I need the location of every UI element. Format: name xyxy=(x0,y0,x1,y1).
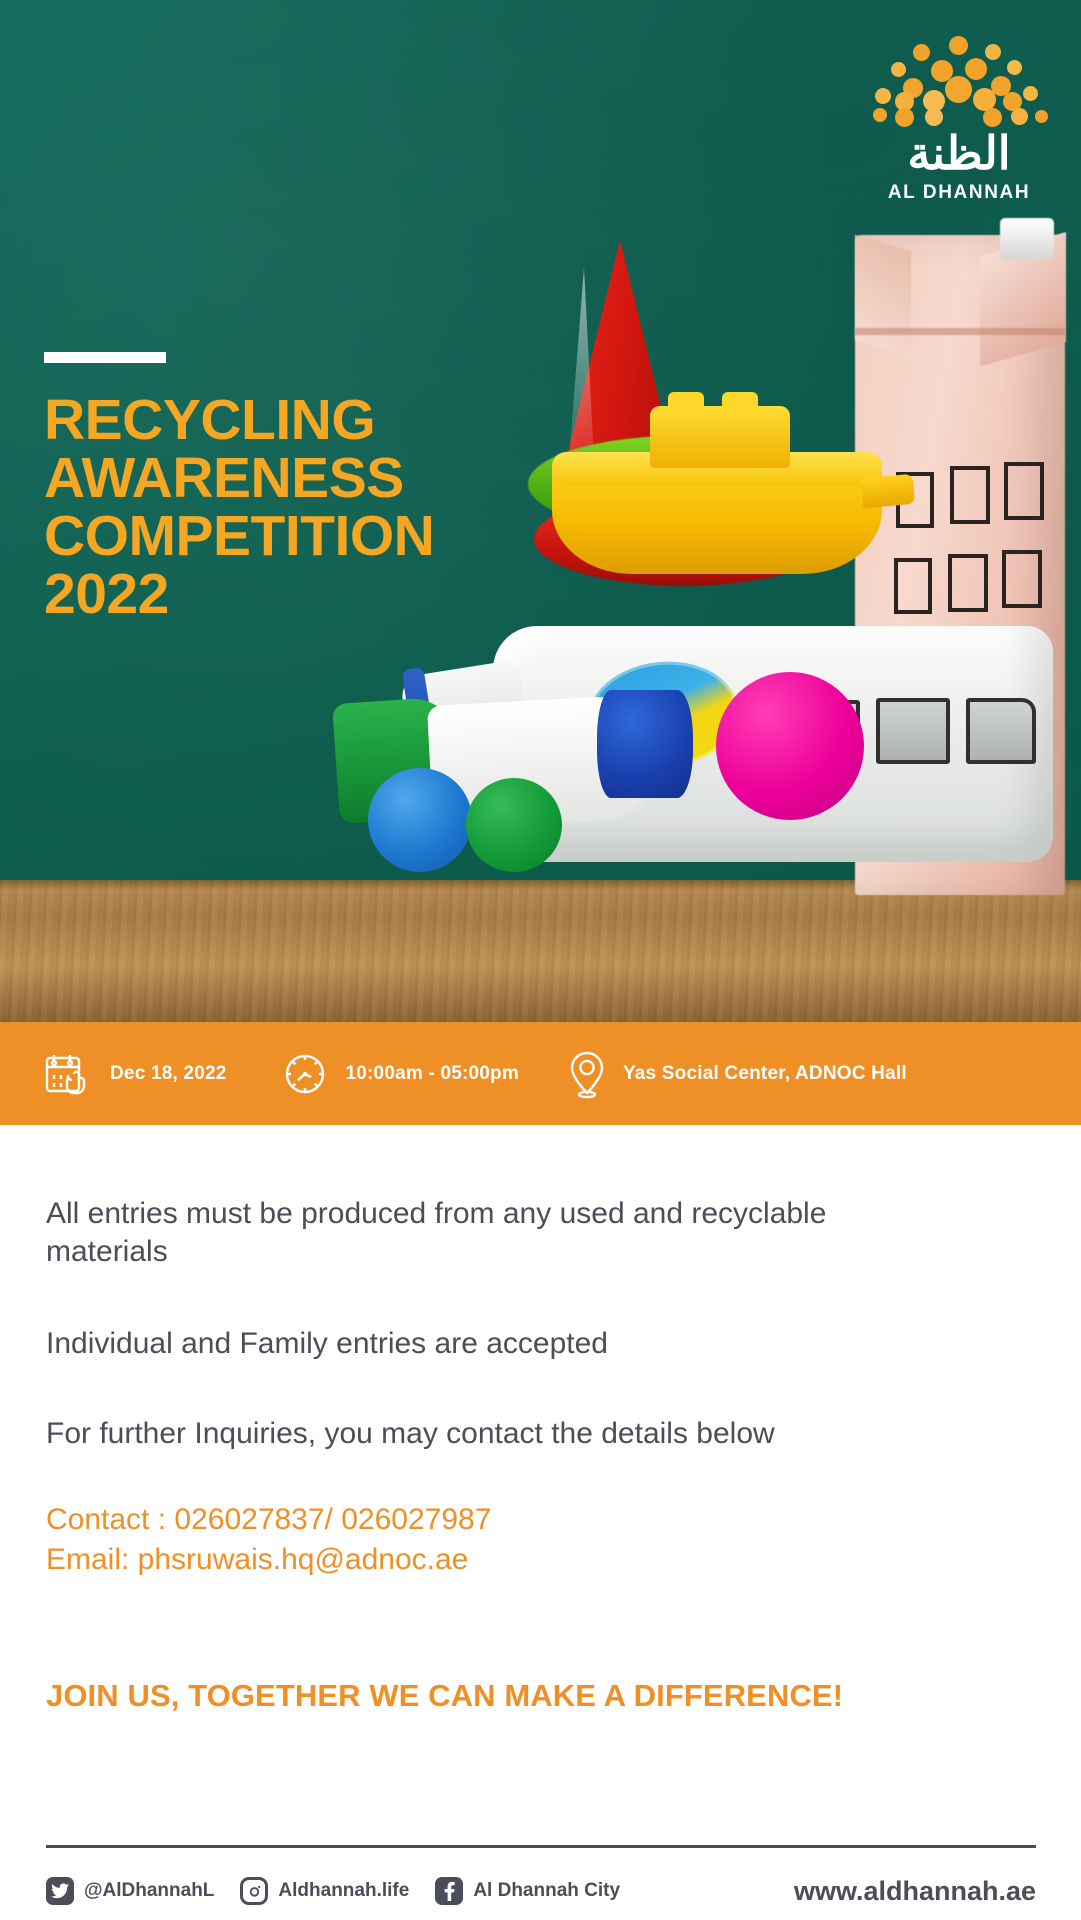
title-line-4: 2022 xyxy=(44,565,514,623)
social-facebook[interactable]: Al Dhannah City xyxy=(435,1877,620,1905)
carton-fold-left xyxy=(855,235,911,356)
facebook-icon xyxy=(435,1877,463,1905)
blue-bottle-cap-small xyxy=(368,768,472,872)
clock-icon xyxy=(282,1051,328,1097)
twitter-handle: @AlDhannahL xyxy=(84,1880,214,1902)
poster-title: RECYCLING AWARENESS COMPETITION 2022 xyxy=(44,391,514,624)
boat-bow-tip xyxy=(861,474,915,508)
blue-bottle-cap-large xyxy=(597,690,693,798)
social-instagram[interactable]: Aldhannah.life xyxy=(240,1877,409,1905)
poster-title-block: RECYCLING AWARENESS COMPETITION 2022 xyxy=(44,352,514,624)
calendar-click-icon xyxy=(44,1052,92,1096)
event-time-text: 10:00am - 05:00pm xyxy=(346,1063,519,1085)
event-date-text: Dec 18, 2022 xyxy=(110,1063,227,1085)
wooden-table-surface xyxy=(0,880,1081,1022)
event-location-item: Yas Social Center, ADNOC Hall xyxy=(567,1049,907,1099)
jug-drawn-window-3 xyxy=(966,698,1036,764)
event-location-text: Yas Social Center, ADNOC Hall xyxy=(623,1063,907,1085)
green-bottle-cap-small xyxy=(466,778,562,872)
social-twitter[interactable]: @AlDhannahL xyxy=(46,1877,214,1905)
logo-dot-arc-icon xyxy=(873,34,1045,126)
event-info-bar: Dec 18, 2022 10:00am - 05:00pm Yas Socia… xyxy=(0,1022,1081,1125)
twitter-icon xyxy=(46,1877,74,1905)
footer-divider xyxy=(46,1845,1036,1848)
call-to-action-text: JOIN US, TOGETHER WE CAN MAKE A DIFFEREN… xyxy=(46,1678,1006,1714)
rules-paragraph-2: Individual and Family entries are accept… xyxy=(46,1325,876,1363)
al-dhannah-logo: الظنة AL DHANNAH xyxy=(873,34,1045,204)
contact-email-line[interactable]: Email: phsruwais.hq@adnoc.ae xyxy=(46,1540,876,1580)
boat-funnel-left xyxy=(668,392,704,418)
title-line-1: RECYCLING xyxy=(44,391,514,449)
contact-details-block: Contact : 026027837/ 026027987 Email: ph… xyxy=(46,1500,876,1580)
footer-social-bar: @AlDhannahL Aldhannah.life Al Dhannah Ci… xyxy=(46,1872,1036,1910)
title-line-3: COMPETITION xyxy=(44,507,514,565)
title-line-2: AWARENESS xyxy=(44,449,514,507)
carton-cap xyxy=(1000,218,1054,260)
carton-seam xyxy=(855,328,1065,335)
pink-bottle-cap-large xyxy=(716,672,864,820)
contact-phone-line[interactable]: Contact : 026027837/ 026027987 xyxy=(46,1500,876,1540)
instagram-handle: Aldhannah.life xyxy=(278,1880,409,1902)
website-url[interactable]: www.aldhannah.ae xyxy=(794,1876,1036,1907)
facebook-handle: Al Dhannah City xyxy=(473,1880,620,1902)
logo-english-name: AL DHANNAH xyxy=(873,182,1045,204)
hero-photo-banner: الظنة AL DHANNAH RECYCLING AWARENESS COM… xyxy=(0,0,1081,1022)
instagram-icon xyxy=(240,1877,268,1905)
rules-paragraph-1: All entries must be produced from any us… xyxy=(46,1195,876,1272)
event-time-item: 10:00am - 05:00pm xyxy=(282,1051,519,1097)
jug-drawn-window-2 xyxy=(876,698,950,764)
title-accent-rule xyxy=(44,352,166,363)
boat-funnel-right xyxy=(722,392,758,418)
logo-arabic-name: الظنة xyxy=(873,130,1045,176)
event-date-item: Dec 18, 2022 xyxy=(44,1052,227,1096)
rules-paragraph-3: For further Inquiries, you may contact t… xyxy=(46,1415,876,1453)
map-pin-icon xyxy=(567,1049,607,1099)
